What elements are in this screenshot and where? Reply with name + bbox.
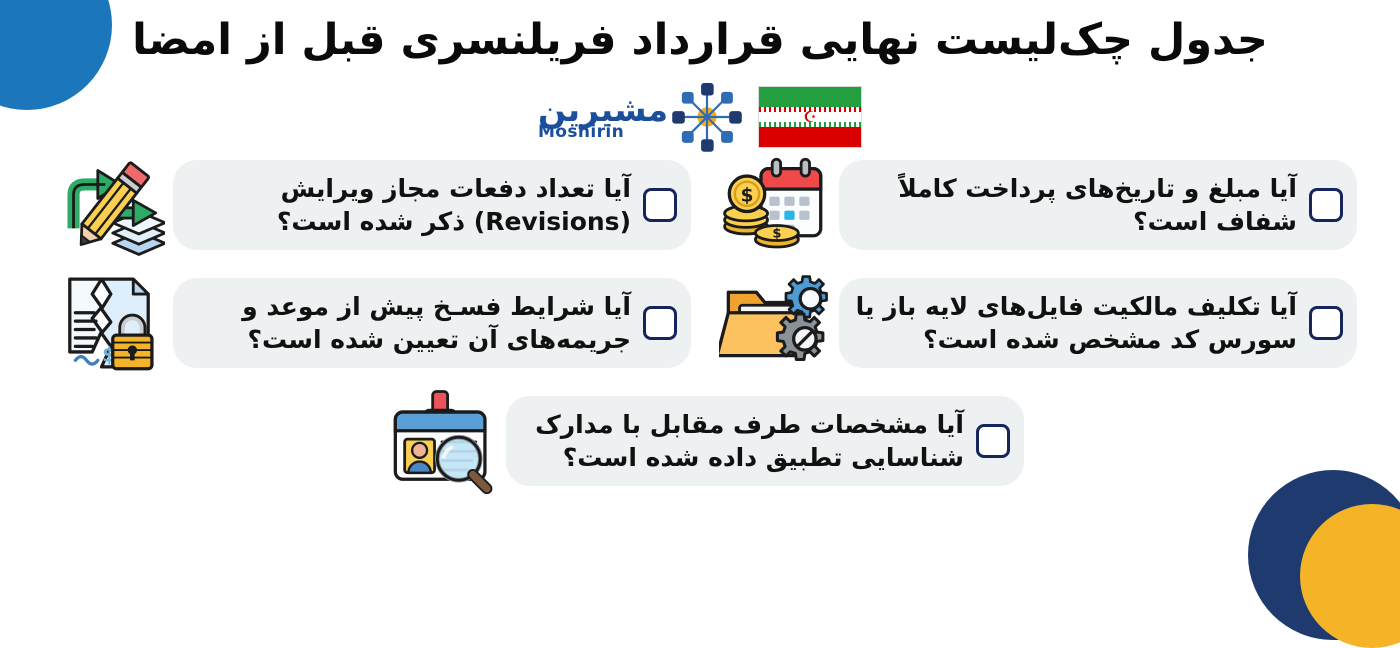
checklist-item-ownership[interactable]: آیا تکلیف مالکیت فایل‌های لایه باز یا سو… <box>709 278 1357 368</box>
torn-contract-lock-icon: $ <box>43 267 175 379</box>
checklist-row: آیا تکلیف مالکیت فایل‌های لایه باز یا سو… <box>0 278 1400 368</box>
checklist-row: آیا مبلغ و تاریخ‌های پرداخت کاملاً شفاف … <box>0 160 1400 250</box>
header: جدول چک‌لیست نهایی قرارداد فریلنسری قبل … <box>0 0 1400 156</box>
flag-band-green <box>759 87 861 107</box>
pencil-revision-icon <box>43 149 175 261</box>
checklist-board: آیا مبلغ و تاریخ‌های پرداخت کاملاً شفاف … <box>0 160 1400 486</box>
brand-row: ☪ <box>0 78 1400 156</box>
iran-flag: ☪ <box>758 86 862 148</box>
checkbox-payment[interactable] <box>1309 188 1343 222</box>
svg-text:$: $ <box>741 185 754 206</box>
page-title: جدول چک‌لیست نهایی قرارداد فریلنسری قبل … <box>0 14 1400 68</box>
id-card-magnifier-icon <box>376 385 508 497</box>
moshirin-network-flower-logo-icon <box>670 80 744 154</box>
moshirin-logo[interactable]: مشیرین Moshirin <box>538 80 744 154</box>
calendar-coins-icon: $ $ <box>709 149 841 261</box>
moshirin-wordmark-fa: مشیرین <box>538 93 668 126</box>
flag-kufic-bottom <box>759 122 861 127</box>
checklist-item-identity[interactable]: آیا مشخصات طرف مقابل با مدارک شناسایی تط… <box>376 396 1024 486</box>
checklist-item-label: آیا تکلیف مالکیت فایل‌های لایه باز یا سو… <box>837 290 1297 356</box>
checkbox-identity[interactable] <box>976 424 1010 458</box>
moshirin-wordmark: مشیرین Moshirin <box>538 93 668 141</box>
checklist-item-termination[interactable]: آیا شرایط فسـخ پیش از موعد و جریمه‌های آ… <box>43 278 691 368</box>
checklist-item-revisions[interactable]: آیا تعداد دفعات مجاز ویرایش (Revisions) … <box>43 160 691 250</box>
checklist-item-label: آیا مبلغ و تاریخ‌های پرداخت کاملاً شفاف … <box>837 172 1297 238</box>
checkbox-revisions[interactable] <box>643 188 677 222</box>
checklist-row: آیا مشخصات طرف مقابل با مدارک شناسایی تط… <box>0 396 1400 486</box>
moshirin-wordmark-en: Moshirin <box>538 124 624 141</box>
checklist-item-label: آیا شرایط فسـخ پیش از موعد و جریمه‌های آ… <box>171 290 631 356</box>
folder-gears-icon <box>709 267 841 379</box>
checkbox-ownership[interactable] <box>1309 306 1343 340</box>
svg-text:$: $ <box>772 226 781 241</box>
checkbox-termination[interactable] <box>643 306 677 340</box>
checklist-item-label: آیا مشخصات طرف مقابل با مدارک شناسایی تط… <box>504 408 964 474</box>
checklist-item-payment[interactable]: آیا مبلغ و تاریخ‌های پرداخت کاملاً شفاف … <box>709 160 1357 250</box>
flag-kufic-top <box>759 107 861 112</box>
flag-band-red <box>759 127 861 147</box>
checklist-item-label: آیا تعداد دفعات مجاز ویرایش (Revisions) … <box>171 172 631 238</box>
